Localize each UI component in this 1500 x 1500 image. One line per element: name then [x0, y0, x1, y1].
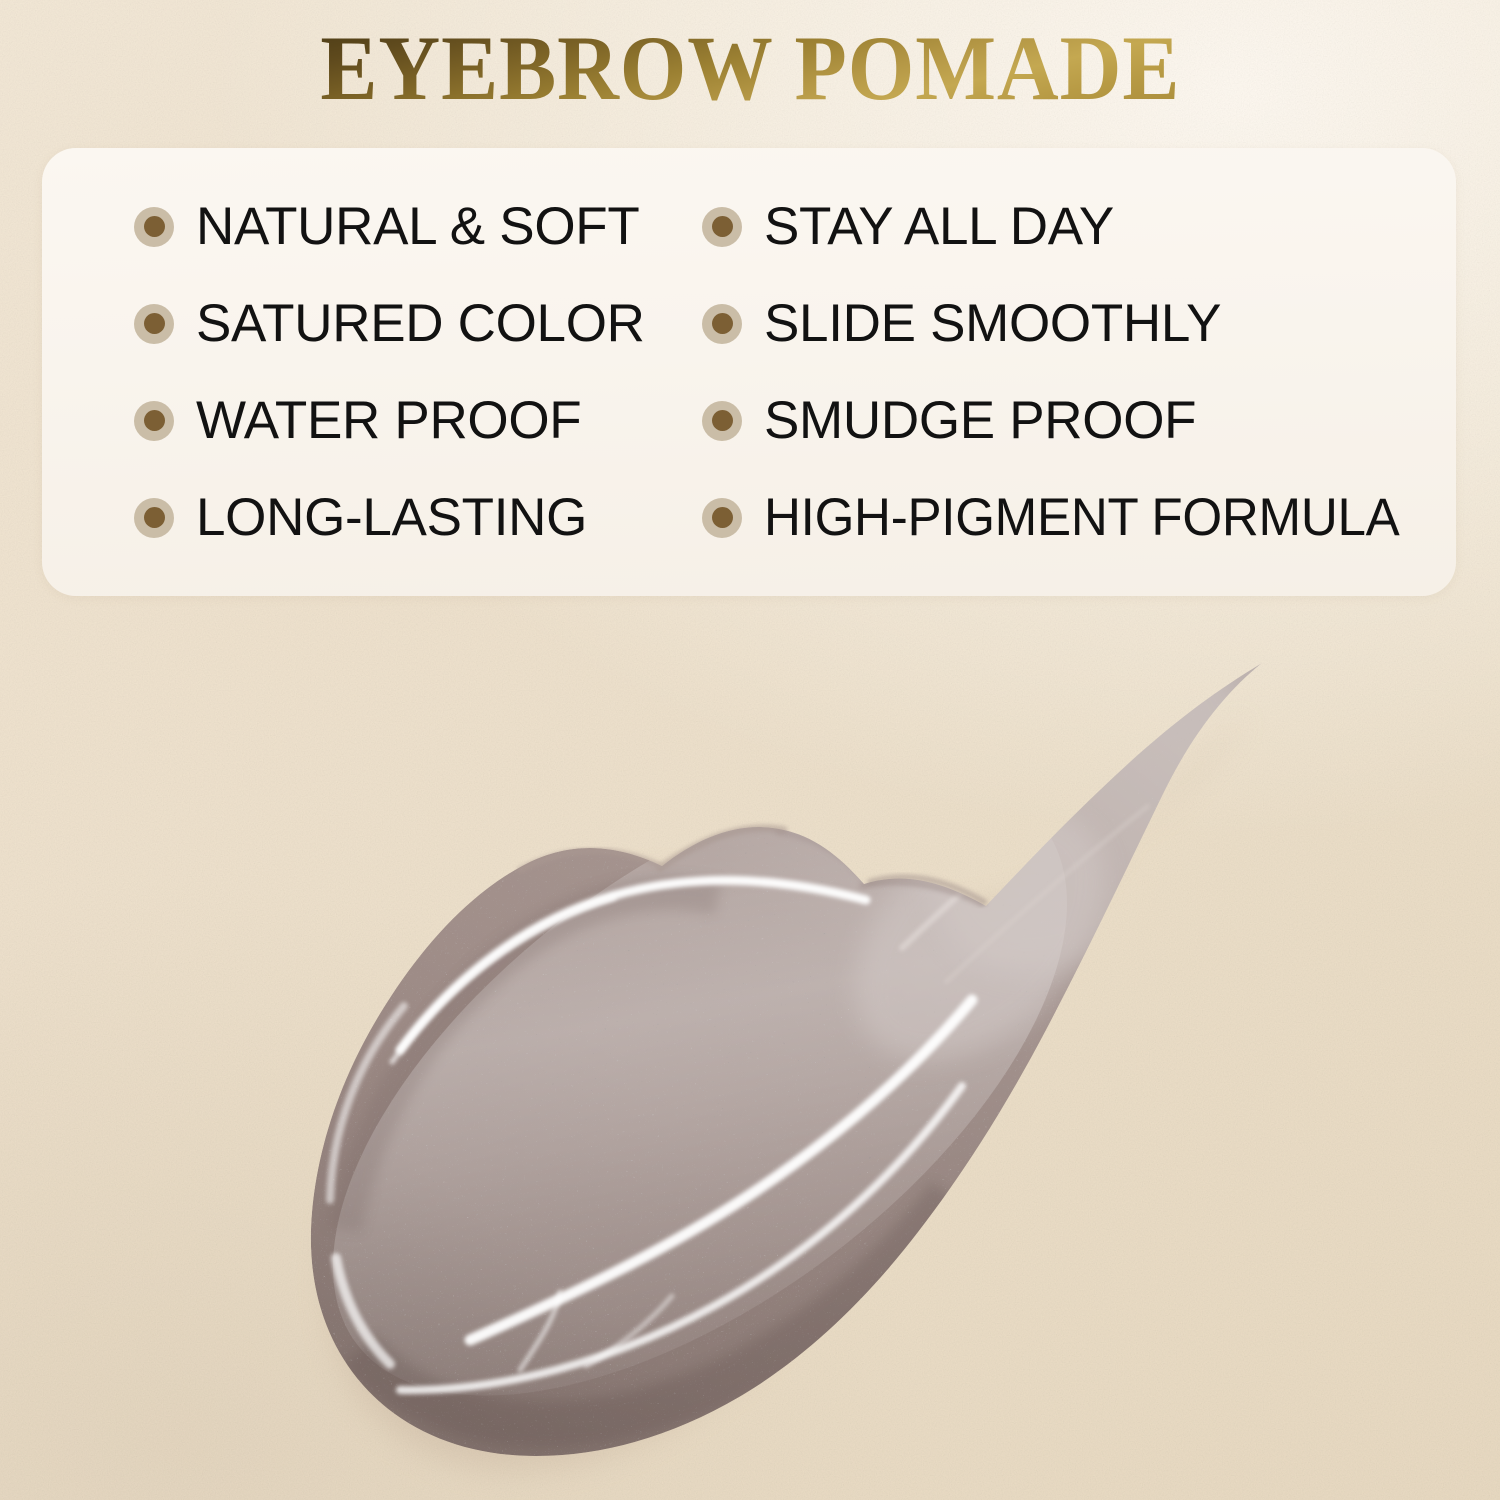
bullet-dot-icon: [702, 304, 742, 344]
bullet-dot-icon: [134, 498, 174, 538]
bullet-dot-icon: [702, 207, 742, 247]
swatch-feathered-edge: [520, 828, 984, 902]
bullet-dot-icon: [134, 304, 174, 344]
swatch-body: [227, 586, 1312, 1500]
feature-label: STAY ALL DAY: [764, 199, 1114, 255]
page-title: EYEBROW POMADE: [320, 22, 1180, 114]
feature-item-water-proof: WATER PROOF: [42, 372, 702, 469]
feature-item-stay-all-day: STAY ALL DAY: [702, 178, 1456, 275]
feature-item-natural-and-soft: NATURAL & SOFT: [42, 178, 702, 275]
bullet-dot-icon: [702, 498, 742, 538]
feature-grid: NATURAL & SOFT STAY ALL DAY SATURED COLO…: [42, 178, 1456, 566]
page-title-container: EYEBROW POMADE: [0, 22, 1500, 114]
feature-label: NATURAL & SOFT: [196, 199, 639, 255]
bullet-dot-icon: [134, 401, 174, 441]
feature-item-high-pigment-formula: HIGH-PIGMENT FORMULA: [702, 469, 1456, 566]
feature-label: HIGH-PIGMENT FORMULA: [764, 490, 1399, 546]
feature-item-long-lasting: LONG-LASTING: [42, 469, 702, 566]
feature-label: WATER PROOF: [196, 393, 581, 449]
bullet-dot-icon: [134, 207, 174, 247]
feature-list-card: NATURAL & SOFT STAY ALL DAY SATURED COLO…: [42, 148, 1456, 596]
feature-item-satured-color: SATURED COLOR: [42, 275, 702, 372]
feature-label: SMUDGE PROOF: [764, 393, 1196, 449]
feature-item-smudge-proof: SMUDGE PROOF: [702, 372, 1456, 469]
feature-label: SLIDE SMOOTHLY: [764, 296, 1221, 352]
bullet-dot-icon: [702, 401, 742, 441]
feature-label: LONG-LASTING: [196, 490, 587, 546]
swatch-cast-shadow: [330, 710, 1254, 1469]
product-marketing-image: EYEBROW POMADE NATURAL & SOFT STAY ALL D…: [0, 0, 1500, 1500]
feature-item-slide-smoothly: SLIDE SMOOTHLY: [702, 275, 1456, 372]
feature-label: SATURED COLOR: [196, 296, 645, 352]
